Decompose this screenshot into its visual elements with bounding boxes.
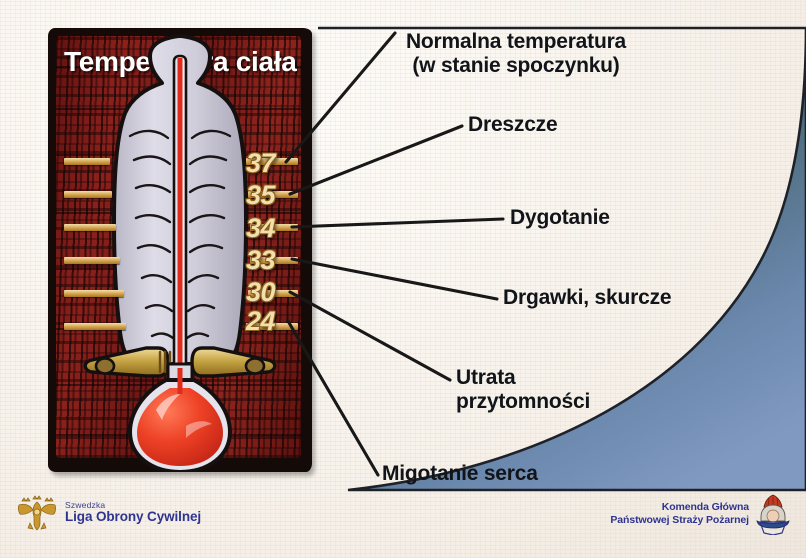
scale-tick-left bbox=[64, 290, 124, 297]
fan-label-migotanie-serca: Migotanie serca bbox=[382, 462, 538, 486]
bulb-column-link bbox=[178, 368, 183, 394]
scale-tick-left bbox=[64, 158, 110, 165]
fan-label-utrata-przytomnosci: Utrata przytomności bbox=[456, 366, 590, 413]
temp-value-24: 24 bbox=[246, 306, 275, 337]
right-logo-line1: Komenda Główna bbox=[610, 501, 749, 514]
fan-label-dreszcze: Dreszcze bbox=[468, 113, 557, 137]
scale-tick-left bbox=[64, 323, 126, 330]
eagle-emblem bbox=[16, 493, 58, 533]
right-logo-text: Komenda Główna Państwowej Straży Pożarne… bbox=[610, 501, 749, 527]
scale-tick-left bbox=[64, 224, 116, 231]
scale-tick-left bbox=[64, 257, 120, 264]
fan-label-normalna-temperatura: Normalna temperatura (w stanie spoczynku… bbox=[386, 30, 646, 77]
thermometer-column bbox=[178, 58, 183, 370]
poster-canvas: Temperatura ciała bbox=[0, 0, 806, 558]
temp-value-37: 37 bbox=[246, 148, 275, 179]
temp-value-30: 30 bbox=[246, 277, 275, 308]
temp-value-35: 35 bbox=[246, 180, 275, 211]
fire-helmet-emblem bbox=[754, 493, 792, 535]
fan-label-drgawki-skurcze: Drgawki, skurcze bbox=[503, 286, 671, 310]
left-organisation-logo: Szwedzka Liga Obrony Cywilnej bbox=[16, 489, 231, 537]
right-logo-line2: Państwowej Straży Pożarnej bbox=[610, 514, 749, 527]
left-logo-text: Szwedzka Liga Obrony Cywilnej bbox=[65, 501, 201, 524]
scale-tick-left bbox=[64, 191, 112, 198]
fan-label-dygotanie: Dygotanie bbox=[510, 206, 610, 230]
temp-value-34: 34 bbox=[246, 213, 275, 244]
right-organisation-logo: Komenda Główna Państwowej Straży Pożarne… bbox=[610, 490, 792, 538]
stem-highlight bbox=[183, 58, 185, 368]
temp-value-33: 33 bbox=[246, 245, 275, 276]
left-logo-line2: Liga Obrony Cywilnej bbox=[65, 510, 201, 524]
